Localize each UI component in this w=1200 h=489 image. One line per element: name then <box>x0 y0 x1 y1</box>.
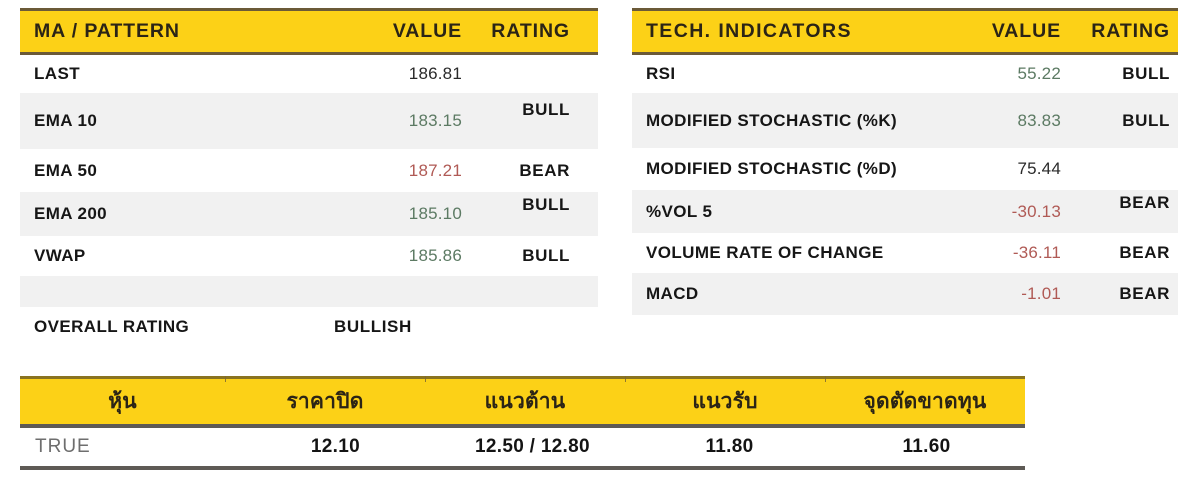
overall-rating-row: OVERALL RATING BULLISH <box>20 307 598 347</box>
row-label: EMA 10 <box>34 111 334 131</box>
row-label: VOLUME RATE OF CHANGE <box>646 243 946 263</box>
table-row: EMA 50 187.21 BEAR <box>20 149 598 192</box>
ma-header-value: VALUE <box>334 20 462 43</box>
row-value: 55.22 <box>946 64 1061 84</box>
column-tick-3 <box>625 376 626 382</box>
table-row: %VOL 5 -30.13 BEAR <box>632 190 1178 233</box>
stock-close: 12.10 <box>237 436 434 458</box>
stock-resistance: 12.50 / 12.80 <box>434 436 631 458</box>
row-label: MODIFIED STOCHASTIC (%D) <box>646 159 946 179</box>
row-value: -30.13 <box>946 202 1061 222</box>
row-value: 183.15 <box>334 111 462 131</box>
stock-stoploss: 11.60 <box>828 436 1025 458</box>
row-value: -1.01 <box>946 284 1061 304</box>
row-rating: BULL <box>462 195 570 215</box>
table-row: MACD -1.01 BEAR <box>632 273 1178 315</box>
column-tick-1 <box>225 376 226 382</box>
stock-levels-table: หุ้น ราคาปิด แนวต้าน แนวรับ จุดตัดขาดทุน… <box>20 376 1025 470</box>
row-rating: BULL <box>1061 111 1170 131</box>
tech-header-rating: RATING <box>1061 20 1170 43</box>
table-row: TRUE 12.10 12.50 / 12.80 11.80 11.60 <box>20 428 1025 470</box>
row-label: MACD <box>646 284 946 304</box>
row-label: EMA 50 <box>34 161 334 181</box>
tech-header-value: VALUE <box>946 20 1061 43</box>
ma-table-header-row: MA / PATTERN VALUE RATING <box>20 8 598 55</box>
row-value: 83.83 <box>946 111 1061 131</box>
stock-header-resistance: แนวต้าน <box>425 385 625 418</box>
row-value: 187.21 <box>334 161 462 181</box>
table-row: MODIFIED STOCHASTIC (%K) 83.83 BULL <box>632 93 1178 148</box>
stock-support: 11.80 <box>631 436 828 458</box>
stock-header-stoploss: จุดตัดขาดทุน <box>825 385 1025 418</box>
column-tick-4 <box>825 376 826 382</box>
row-label: %VOL 5 <box>646 202 946 222</box>
table-row: LAST 186.81 <box>20 55 598 93</box>
row-value: 186.81 <box>334 64 462 84</box>
row-rating: BEAR <box>462 161 570 181</box>
table-row: VWAP 185.86 BULL <box>20 236 598 276</box>
row-value: 75.44 <box>946 159 1061 179</box>
row-rating: BEAR <box>1061 284 1170 304</box>
overall-rating-value: BULLISH <box>334 317 462 337</box>
tech-indicators-table: TECH. INDICATORS VALUE RATING RSI 55.22 … <box>632 8 1178 315</box>
stock-header-close: ราคาปิด <box>225 385 425 418</box>
column-tick-2 <box>425 376 426 382</box>
row-label: MODIFIED STOCHASTIC (%K) <box>646 111 946 131</box>
stock-header-support: แนวรับ <box>625 385 825 418</box>
stock-table-header-row: หุ้น ราคาปิด แนวต้าน แนวรับ จุดตัดขาดทุน <box>20 376 1025 428</box>
table-row: MODIFIED STOCHASTIC (%D) 75.44 <box>632 148 1178 190</box>
ma-header-rating: RATING <box>462 20 570 43</box>
stock-symbol: TRUE <box>20 436 237 458</box>
tech-header-label: TECH. INDICATORS <box>646 20 946 43</box>
row-label: LAST <box>34 64 334 84</box>
row-label: VWAP <box>34 246 334 266</box>
row-value: 185.86 <box>334 246 462 266</box>
row-value: -36.11 <box>946 243 1061 263</box>
row-label: RSI <box>646 64 946 84</box>
row-rating: BEAR <box>1061 193 1170 213</box>
row-value: 185.10 <box>334 204 462 224</box>
overall-rating-label: OVERALL RATING <box>34 317 334 337</box>
row-rating: BEAR <box>1061 243 1170 263</box>
row-rating: BULL <box>462 246 570 266</box>
ma-header-label: MA / PATTERN <box>34 20 334 43</box>
table-row: RSI 55.22 BULL <box>632 55 1178 93</box>
row-rating: BULL <box>462 100 570 120</box>
table-row-spacer <box>20 276 598 307</box>
table-row: EMA 200 185.10 BULL <box>20 192 598 236</box>
row-label: EMA 200 <box>34 204 334 224</box>
stock-header-symbol: หุ้น <box>20 385 225 418</box>
row-rating: BULL <box>1061 64 1170 84</box>
ma-pattern-table: MA / PATTERN VALUE RATING LAST 186.81 EM… <box>20 8 598 347</box>
table-row: EMA 10 183.15 BULL <box>20 93 598 149</box>
table-row: VOLUME RATE OF CHANGE -36.11 BEAR <box>632 233 1178 273</box>
tech-table-header-row: TECH. INDICATORS VALUE RATING <box>632 8 1178 55</box>
